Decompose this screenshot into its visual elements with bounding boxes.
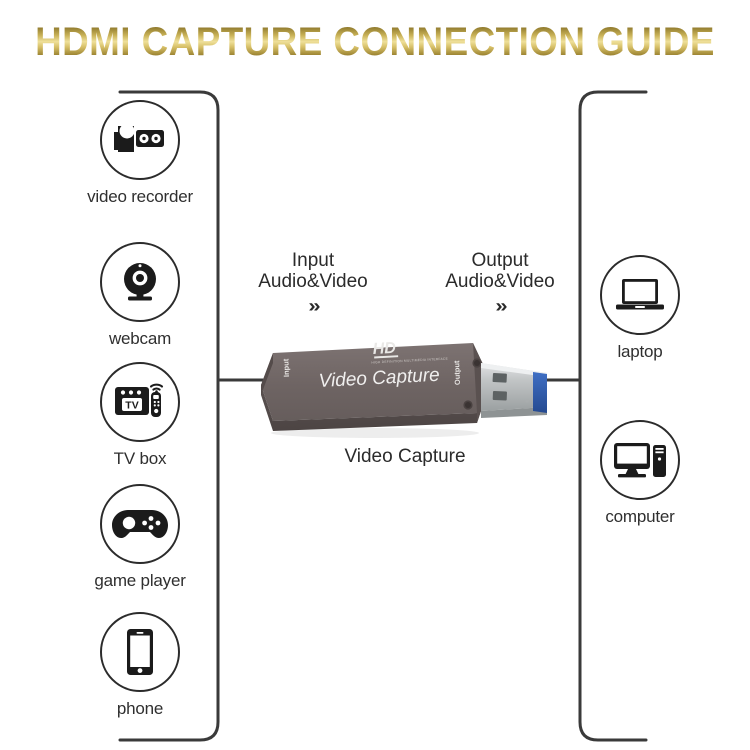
webcam-icon bbox=[117, 259, 163, 305]
source-item-game-player: game player bbox=[55, 484, 225, 591]
output-flow-arrow-icon: » bbox=[400, 296, 600, 315]
output-flow-line2: Audio&Video bbox=[400, 271, 600, 292]
source-item-tv-box: TV TV box bbox=[55, 362, 225, 469]
smartphone-icon bbox=[123, 627, 157, 677]
source-label-game-player: game player bbox=[55, 571, 225, 591]
right-bracket bbox=[580, 92, 646, 740]
output-flow-line1: Output bbox=[400, 250, 600, 271]
destination-icon-circle bbox=[600, 420, 680, 500]
input-flow-label: Input Audio&Video » bbox=[213, 250, 413, 317]
output-flow-label: Output Audio&Video » bbox=[400, 250, 600, 317]
camcorder-icon bbox=[112, 120, 168, 160]
source-label-webcam: webcam bbox=[55, 329, 225, 349]
device-port-label-input: Input bbox=[281, 358, 291, 377]
destination-label-laptop: laptop bbox=[555, 342, 725, 362]
video-capture-device-image: HD HIGH DEFINITION MULTIMEDIA INTERFACE … bbox=[255, 325, 555, 450]
source-item-webcam: webcam bbox=[55, 242, 225, 349]
source-icon-circle: TV bbox=[100, 362, 180, 442]
svg-text:TV: TV bbox=[125, 400, 138, 412]
tv-box-icon: TV bbox=[113, 379, 167, 425]
source-item-video-recorder: video recorder bbox=[55, 100, 225, 207]
source-icon-circle bbox=[100, 242, 180, 322]
infographic-canvas: HDMI CAPTURE CONNECTION GUIDE video re bbox=[0, 0, 750, 750]
desktop-computer-icon bbox=[612, 439, 668, 481]
source-icon-circle bbox=[100, 484, 180, 564]
device-port-label-output: Output bbox=[452, 360, 462, 385]
source-label-video-recorder: video recorder bbox=[55, 187, 225, 207]
gamepad-icon bbox=[112, 506, 168, 542]
source-label-tv-box: TV box bbox=[55, 449, 225, 469]
device-brand-mark: HD bbox=[372, 340, 396, 358]
laptop-icon bbox=[614, 275, 666, 315]
input-flow-line1: Input bbox=[213, 250, 413, 271]
source-label-phone: phone bbox=[55, 699, 225, 719]
destination-icon-circle bbox=[600, 255, 680, 335]
destination-item-computer: computer bbox=[555, 420, 725, 527]
input-flow-arrow-icon: » bbox=[213, 296, 413, 315]
source-icon-circle bbox=[100, 612, 180, 692]
input-flow-line2: Audio&Video bbox=[213, 271, 413, 292]
destination-label-computer: computer bbox=[555, 507, 725, 527]
source-item-phone: phone bbox=[55, 612, 225, 719]
device-caption: Video Capture bbox=[255, 446, 555, 468]
source-icon-circle bbox=[100, 100, 180, 180]
usb-connector bbox=[481, 363, 547, 418]
